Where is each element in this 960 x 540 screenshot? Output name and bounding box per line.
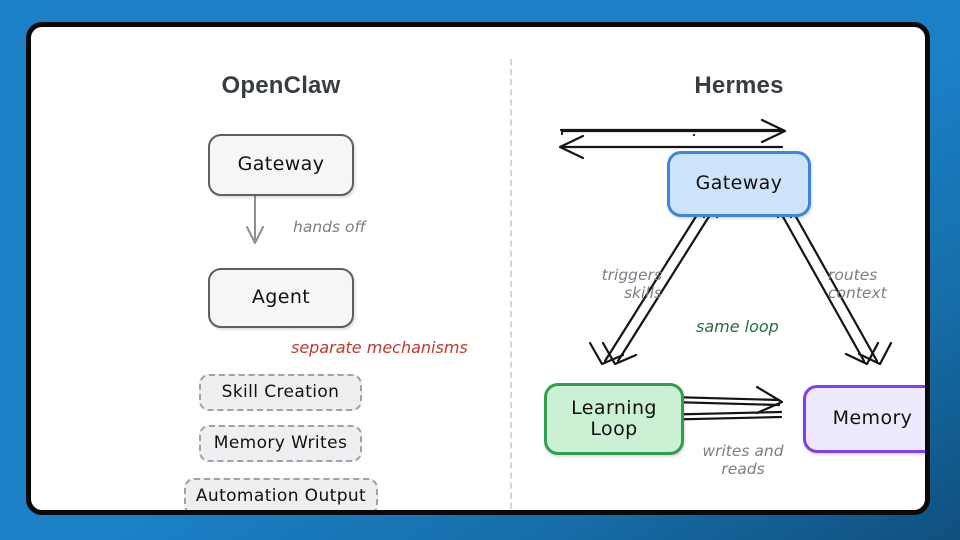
annotation-separate-mechanisms: separate mechanisms [291,339,468,358]
slide-canvas: OpenClaw Hermes [0,0,960,540]
node-label: Automation Output [196,487,366,506]
annotation-same-loop: same loop [696,318,779,337]
node-openclaw-gateway[interactable]: Gateway [208,134,354,196]
node-label: Memory [833,408,913,429]
edge-label-triggers-skills: triggers skills [598,266,662,303]
content-card: OpenClaw Hermes [26,22,930,515]
node-openclaw-memory-writes[interactable]: Memory Writes [199,425,362,462]
node-openclaw-automation-output[interactable]: Automation Output [184,478,378,515]
node-hermes-memory[interactable]: Memory [803,385,930,453]
node-label: Gateway [696,173,783,194]
arrow-layer [31,27,930,515]
edge-label-writes-and-reads: writes and reads [697,442,789,479]
panel-divider [510,59,512,515]
node-label-line2: Loop [590,419,637,440]
panel-title-openclaw: OpenClaw [222,72,341,100]
panel-title-hermes: Hermes [694,72,783,100]
node-label: Agent [252,287,310,308]
node-label: Gateway [238,154,325,175]
edge-label-hands-off: hands off [293,218,366,236]
edge-label-routes-context: routes context [828,266,898,303]
node-label-line1: Learning [571,398,657,419]
node-label: Memory Writes [214,434,347,453]
node-label: Skill Creation [222,383,340,402]
node-openclaw-agent[interactable]: Agent [208,268,354,328]
node-hermes-gateway[interactable]: Gateway [667,151,811,217]
node-openclaw-skill-creation[interactable]: Skill Creation [199,374,362,411]
node-hermes-learning-loop[interactable]: Learning Loop [544,383,684,455]
